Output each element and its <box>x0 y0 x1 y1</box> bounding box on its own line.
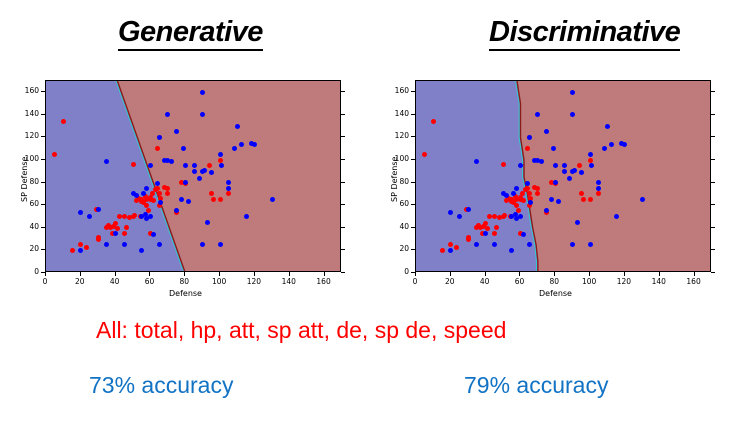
scatter-point-red <box>122 231 127 236</box>
scatter-point-red <box>492 231 497 236</box>
x-tick-mark <box>485 272 486 276</box>
scatter-point-blue <box>605 124 610 129</box>
scatter-point-blue <box>235 124 240 129</box>
scatter-point-blue <box>197 176 202 181</box>
y-tick-mark <box>41 136 45 137</box>
panel-title-generative: Generative <box>118 17 263 51</box>
y-axis-label: SP Defense <box>20 157 29 202</box>
y-tick-label: 20 <box>9 244 39 253</box>
x-tick-mark <box>184 272 185 276</box>
y-tick-mark-right <box>711 114 715 115</box>
x-tick-mark <box>659 272 660 276</box>
scatter-point-blue <box>202 168 207 173</box>
y-tick-mark <box>411 249 415 250</box>
y-tick-mark <box>41 204 45 205</box>
scatter-point-red <box>113 221 118 226</box>
accuracy-label-generative: 73% accuracy <box>89 372 233 399</box>
scatter-point-red <box>70 248 75 253</box>
x-axis-label: Defense <box>539 289 572 298</box>
scatter-point-blue <box>87 214 92 219</box>
y-tick-mark-right <box>711 182 715 183</box>
y-axis-label: SP Defense <box>390 157 399 202</box>
y-tick-mark-right <box>341 159 345 160</box>
decision-boundary-line <box>46 81 341 272</box>
y-tick-label: 20 <box>379 244 409 253</box>
scatter-plot-discriminative: 0204060801001201401600204060801001201401… <box>378 72 730 300</box>
scatter-point-blue <box>588 152 593 157</box>
scatter-point-blue <box>232 146 237 151</box>
y-tick-label: 120 <box>9 131 39 140</box>
scatter-point-blue <box>567 176 572 181</box>
x-tick-label: 80 <box>170 277 198 286</box>
y-tick-mark <box>411 182 415 183</box>
y-tick-mark-right <box>341 249 345 250</box>
y-tick-mark-right <box>341 204 345 205</box>
scatter-point-blue <box>209 170 214 175</box>
scatter-point-blue <box>466 207 471 212</box>
scatter-point-blue <box>239 142 244 147</box>
scatter-point-red <box>494 225 499 230</box>
x-tick-mark <box>80 272 81 276</box>
x-tick-mark <box>694 272 695 276</box>
scatter-point-red <box>588 158 593 163</box>
scatter-point-red <box>501 162 506 167</box>
x-tick-label: 140 <box>275 277 303 286</box>
x-tick-mark <box>254 272 255 276</box>
scatter-point-blue <box>192 163 197 168</box>
x-tick-label: 80 <box>540 277 568 286</box>
y-tick-mark <box>41 159 45 160</box>
y-tick-mark-right <box>711 249 715 250</box>
accuracy-label-discriminative: 79% accuracy <box>464 372 608 399</box>
x-tick-mark <box>115 272 116 276</box>
y-tick-mark <box>41 91 45 92</box>
y-tick-mark <box>411 204 415 205</box>
y-tick-label: 140 <box>379 109 409 118</box>
scatter-point-blue <box>572 168 577 173</box>
scatter-point-blue <box>609 142 614 147</box>
y-tick-mark <box>411 136 415 137</box>
scatter-point-blue <box>183 180 188 185</box>
scatter-point-blue <box>134 193 139 198</box>
scatter-point-red <box>466 237 471 242</box>
y-tick-mark <box>411 114 415 115</box>
scatter-point-blue <box>518 214 523 219</box>
scatter-point-red <box>117 214 122 219</box>
y-tick-mark-right <box>711 204 715 205</box>
y-tick-mark <box>411 91 415 92</box>
scatter-point-red <box>487 214 492 219</box>
plot-axes-frame <box>415 80 711 272</box>
y-tick-mark-right <box>341 136 345 137</box>
scatter-point-blue <box>553 163 558 168</box>
scatter-point-blue <box>570 90 575 95</box>
scatter-point-blue <box>96 207 101 212</box>
scatter-point-red <box>588 197 593 202</box>
panel-title-discriminative: Discriminative <box>489 17 680 51</box>
scatter-point-blue <box>448 210 453 215</box>
scatter-point-blue <box>579 170 584 175</box>
x-tick-label: 0 <box>401 277 429 286</box>
y-tick-mark <box>41 182 45 183</box>
x-tick-label: 120 <box>610 277 638 286</box>
scatter-point-blue <box>192 169 197 174</box>
y-tick-mark <box>411 272 415 273</box>
y-tick-mark-right <box>711 227 715 228</box>
scatter-point-red <box>155 186 160 191</box>
scatter-point-red <box>96 237 101 242</box>
x-tick-mark <box>589 272 590 276</box>
scatter-point-red <box>218 197 223 202</box>
scatter-point-red <box>440 248 445 253</box>
scatter-point-red <box>525 186 530 191</box>
scatter-point-blue <box>527 135 532 140</box>
scatter-point-blue <box>457 214 462 219</box>
y-tick-mark-right <box>711 272 715 273</box>
y-tick-mark-right <box>711 91 715 92</box>
scatter-point-red <box>218 158 223 163</box>
scatter-point-red <box>124 225 129 230</box>
scatter-point-blue <box>539 159 544 164</box>
scatter-point-blue <box>148 214 153 219</box>
y-tick-mark-right <box>341 91 345 92</box>
y-tick-mark-right <box>341 227 345 228</box>
scatter-point-blue <box>270 197 275 202</box>
y-tick-label: 140 <box>9 109 39 118</box>
y-tick-mark <box>411 227 415 228</box>
plot-axes-frame <box>45 80 341 272</box>
x-tick-mark <box>450 272 451 276</box>
scatter-point-blue <box>602 146 607 151</box>
x-tick-label: 60 <box>135 277 163 286</box>
scatter-point-blue <box>200 90 205 95</box>
y-tick-label: 40 <box>379 222 409 231</box>
x-tick-label: 20 <box>66 277 94 286</box>
x-tick-label: 60 <box>505 277 533 286</box>
scatter-point-blue <box>562 163 567 168</box>
x-tick-label: 20 <box>436 277 464 286</box>
scatter-point-blue <box>244 214 249 219</box>
scatter-plot-generative: 0204060801001201401600204060801001201401… <box>8 72 360 300</box>
scatter-point-red <box>483 221 488 226</box>
scatter-point-blue <box>78 210 83 215</box>
x-tick-mark <box>519 272 520 276</box>
scatter-point-blue <box>157 242 162 247</box>
y-tick-mark-right <box>711 159 715 160</box>
scatter-point-blue <box>218 242 223 247</box>
decision-boundary-line <box>416 81 711 272</box>
scatter-point-red <box>581 197 586 202</box>
scatter-point-red <box>84 245 89 250</box>
features-caption: All: total, hp, att, sp att, de, sp de, … <box>96 317 506 344</box>
x-tick-mark <box>324 272 325 276</box>
scatter-point-red <box>211 197 216 202</box>
scatter-point-blue <box>218 152 223 157</box>
y-tick-mark <box>41 227 45 228</box>
x-tick-mark <box>554 272 555 276</box>
y-tick-label: 40 <box>9 222 39 231</box>
x-tick-mark <box>624 272 625 276</box>
x-tick-label: 160 <box>310 277 338 286</box>
y-tick-label: 160 <box>379 86 409 95</box>
x-tick-label: 120 <box>240 277 268 286</box>
scatter-point-blue <box>527 242 532 247</box>
x-tick-label: 0 <box>31 277 59 286</box>
scatter-point-red <box>131 162 136 167</box>
scatter-point-blue <box>562 169 567 174</box>
x-tick-label: 100 <box>575 277 603 286</box>
x-tick-mark <box>289 272 290 276</box>
y-tick-label: 160 <box>9 86 39 95</box>
x-tick-label: 40 <box>471 277 499 286</box>
y-tick-mark-right <box>711 136 715 137</box>
y-tick-mark <box>41 114 45 115</box>
scatter-point-blue <box>157 135 162 140</box>
y-tick-mark-right <box>341 182 345 183</box>
x-tick-mark <box>219 272 220 276</box>
scatter-point-blue <box>614 214 619 219</box>
scatter-point-blue <box>504 193 509 198</box>
slide-root: Generative Discriminative 02040608010012… <box>0 0 740 428</box>
x-tick-label: 140 <box>645 277 673 286</box>
scatter-point-blue <box>588 242 593 247</box>
scatter-point-blue <box>169 159 174 164</box>
y-tick-mark <box>41 272 45 273</box>
y-tick-label: 0 <box>9 267 39 276</box>
scatter-point-blue <box>553 180 558 185</box>
x-tick-mark <box>149 272 150 276</box>
x-tick-mark <box>45 272 46 276</box>
y-tick-mark-right <box>341 114 345 115</box>
scatter-point-red <box>454 245 459 250</box>
x-tick-mark <box>415 272 416 276</box>
y-tick-label: 120 <box>379 131 409 140</box>
x-tick-label: 100 <box>205 277 233 286</box>
x-axis-label: Defense <box>169 289 202 298</box>
y-tick-mark <box>41 249 45 250</box>
scatter-point-blue <box>640 197 645 202</box>
y-tick-mark-right <box>341 272 345 273</box>
x-tick-label: 40 <box>101 277 129 286</box>
x-tick-label: 160 <box>680 277 708 286</box>
y-tick-mark <box>411 159 415 160</box>
y-tick-label: 0 <box>379 267 409 276</box>
scatter-point-blue <box>183 163 188 168</box>
